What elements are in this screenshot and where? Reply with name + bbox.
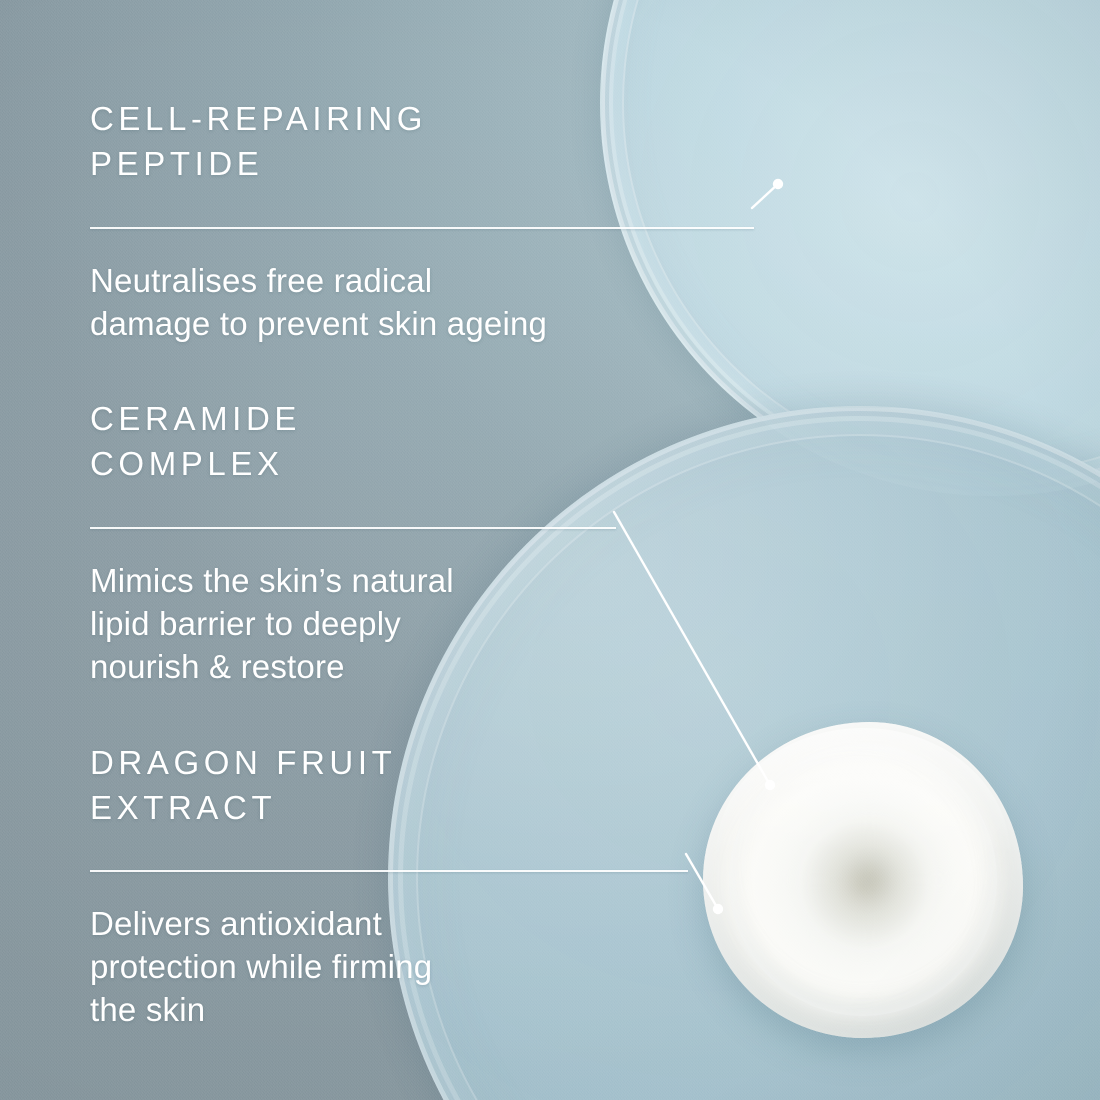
ingredient-heading: CERAMIDE COMPLEX	[90, 396, 616, 486]
ingredient-description: Neutralises free radical damage to preve…	[90, 259, 754, 345]
ingredient-heading: CELL-REPAIRING PEPTIDE	[90, 96, 754, 186]
annotation-block-ceramide-complex: CERAMIDE COMPLEX Mimics the skin’s natur…	[90, 396, 616, 688]
divider-rule	[90, 227, 754, 229]
divider-rule	[90, 527, 616, 529]
infographic-canvas: CELL-REPAIRING PEPTIDE Neutralises free …	[0, 0, 1100, 1100]
ingredient-description: Delivers antioxidant protection while fi…	[90, 902, 688, 1031]
ingredient-heading: DRAGON FRUIT EXTRACT	[90, 740, 688, 830]
annotation-block-cell-repairing-peptide: CELL-REPAIRING PEPTIDE Neutralises free …	[90, 96, 754, 345]
divider-rule	[90, 870, 688, 872]
ingredient-description: Mimics the skin’s natural lipid barrier …	[90, 559, 616, 688]
annotation-block-dragon-fruit-extract: DRAGON FRUIT EXTRACT Delivers antioxidan…	[90, 740, 688, 1031]
